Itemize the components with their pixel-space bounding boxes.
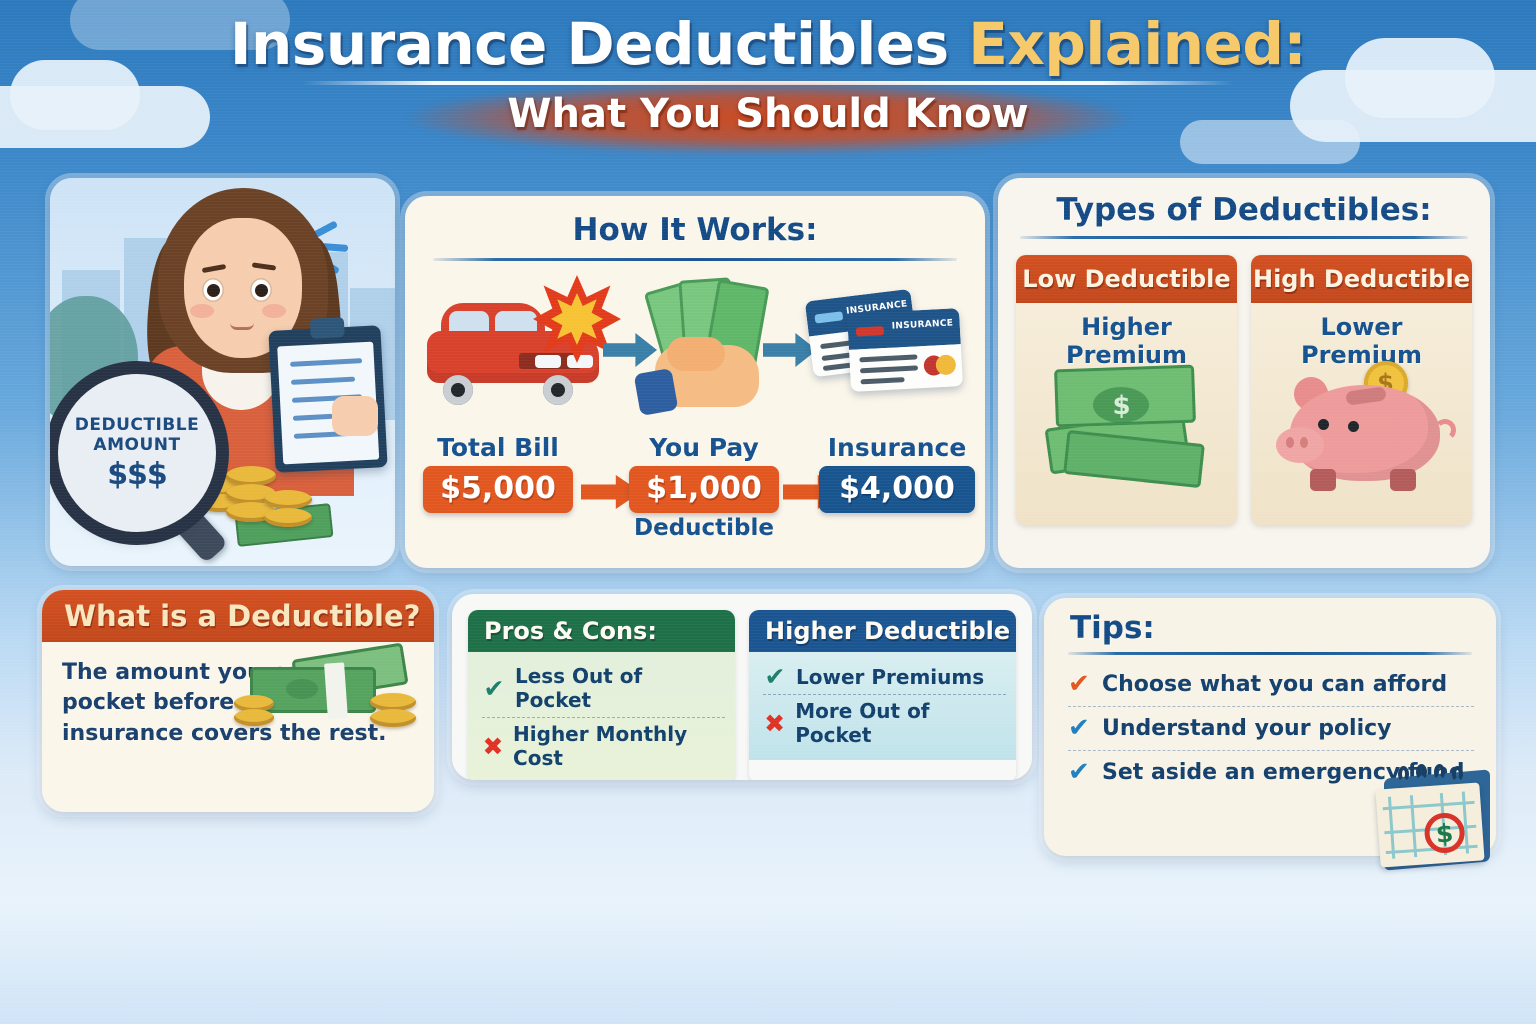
list-item-label: Understand your policy [1102, 716, 1392, 741]
magnifier-icon: DEDUCTIBLE AMOUNT $$$ [58, 374, 216, 532]
types-grid: Low Deductible Higher Premium $ High Ded… [998, 239, 1490, 541]
type-body: Lower Premium $ [1251, 303, 1472, 525]
hero-illustration-panel: DEDUCTIBLE AMOUNT $$$ [50, 178, 395, 566]
how-it-works-panel: How It Works: [405, 196, 985, 568]
list-item-label: Higher Monthly Cost [513, 722, 725, 770]
what-is-deductible-body: The amount you pay out of pocket before … [42, 642, 434, 749]
dollar-symbol: $ [1435, 820, 1454, 846]
pros-cons-body: ✔ Less Out of Pocket ✖ Higher Monthly Co… [468, 652, 735, 780]
step-label: Total Bill [423, 433, 573, 462]
type-header: High Deductible [1251, 255, 1472, 303]
step-sublabel: Deductible [629, 515, 779, 541]
woman-blush [262, 304, 286, 318]
shirt-cuff [634, 368, 679, 416]
coin-icon [264, 508, 312, 527]
paper-line [291, 377, 355, 385]
coin-icon [226, 466, 276, 486]
how-it-works-title: How It Works: [405, 212, 985, 248]
list-item-label: More Out of Pocket [795, 699, 1006, 747]
calendar-ring [1416, 764, 1427, 780]
list-item: ✔ Less Out of Pocket [482, 660, 725, 717]
pig-leg [1310, 469, 1336, 491]
calendar-icon: $ [1368, 760, 1500, 872]
pros-cons-column-high[interactable]: Higher Deductible ✔ Lower Premiums ✖ Mor… [749, 610, 1016, 780]
list-item-label: Lower Premiums [796, 665, 984, 689]
check-icon: ✔ [1068, 715, 1090, 741]
page-header: Insurance Deductibles Explained: What Yo… [0, 14, 1536, 147]
coin-icon [234, 709, 274, 726]
step-label: You Pay [629, 433, 779, 462]
pig-eye [1348, 421, 1359, 432]
step-label: Insurance [819, 433, 975, 462]
cash-stack-icon: $ [1043, 361, 1211, 491]
hand-thumb [667, 337, 725, 371]
type-subtitle: Lower Premium [1257, 313, 1466, 369]
woman-mouth [230, 323, 254, 330]
how-it-works-steps: Total Bill $5,000 You Pay $1,000 Deducti… [405, 427, 985, 553]
type-body: Higher Premium $ [1016, 303, 1237, 525]
how-it-works-illustration: INSURANCE INSURANCE [405, 271, 985, 423]
cross-icon: ✖ [763, 711, 786, 736]
step-you-pay: You Pay $1,000 Deductible [629, 433, 779, 541]
pig-nostril [1286, 437, 1294, 448]
list-item: ✔ Understand your policy [1068, 706, 1474, 750]
what-is-deductible-panel: What is a Deductible? The amount you pay… [42, 590, 434, 812]
magnifier-line-1: DEDUCTIBLE [75, 415, 199, 435]
pros-cons-column-low[interactable]: Pros & Cons: ✔ Less Out of Pocket ✖ High… [468, 610, 735, 780]
insurance-cards-icon: INSURANCE INSURANCE [809, 293, 961, 401]
pros-cons-body: ✔ Lower Premiums ✖ More Out of Pocket [749, 652, 1016, 760]
magnifier-line-2: AMOUNT [93, 435, 180, 455]
pros-and-cons-panel: Pros & Cons: ✔ Less Out of Pocket ✖ High… [452, 594, 1032, 780]
woman-pupil [207, 284, 220, 297]
step-value-chip: $1,000 [629, 466, 779, 513]
magnifier-content: DEDUCTIBLE AMOUNT $$$ [58, 374, 216, 532]
step-value-chip: $4,000 [819, 466, 975, 513]
page-title: Insurance Deductibles Explained: [0, 14, 1536, 75]
check-icon: ✔ [1068, 671, 1090, 697]
paper-line [293, 414, 333, 421]
list-item: ✖ Higher Monthly Cost [482, 717, 725, 775]
title-primary-text: Insurance Deductibles [230, 10, 968, 78]
hand-with-money-icon [637, 279, 777, 419]
crash-burst-inner [551, 293, 603, 345]
card-stripe [856, 326, 884, 336]
money-band [324, 662, 348, 719]
woman-blush [190, 304, 214, 318]
pros-cons-grid: Pros & Cons: ✔ Less Out of Pocket ✖ High… [452, 594, 1032, 780]
list-item-label: Less Out of Pocket [515, 664, 725, 712]
money-seal [286, 679, 318, 699]
calendar-ring [1434, 764, 1445, 780]
list-item: ✔ Lower Premiums [763, 660, 1006, 694]
cross-icon: ✖ [482, 734, 504, 759]
types-title: Types of Deductibles: [998, 192, 1490, 228]
calendar-ring [1452, 766, 1463, 782]
types-of-deductibles-panel: Types of Deductibles: Low Deductible Hig… [998, 178, 1490, 568]
type-column-high-deductible[interactable]: High Deductible Lower Premium $ [1251, 255, 1472, 525]
pros-cons-header: Higher Deductible [749, 610, 1016, 652]
subtitle-band: What You Should Know [268, 85, 1268, 147]
type-header: Low Deductible [1016, 255, 1237, 303]
insurance-card-front: INSURANCE [847, 308, 963, 392]
coin-icon [370, 709, 416, 727]
calendar-ring [1398, 766, 1409, 782]
step-total-bill: Total Bill $5,000 [423, 433, 573, 513]
car-wheel [443, 375, 473, 405]
infographic-canvas: Insurance Deductibles Explained: What Yo… [0, 0, 1536, 1024]
piggy-bank-icon: $ [1272, 371, 1452, 493]
check-icon: ✔ [482, 676, 506, 701]
money-stack-icon [240, 617, 420, 735]
step-value-chip: $5,000 [423, 466, 573, 513]
type-column-low-deductible[interactable]: Low Deductible Higher Premium $ [1016, 255, 1237, 525]
car-wheel [543, 375, 573, 405]
title-accent-text: Explained: [968, 10, 1306, 78]
step-insurance: Insurance $4,000 [819, 433, 975, 513]
check-icon: ✔ [1068, 759, 1090, 785]
list-item-label: Choose what you can afford [1102, 672, 1447, 697]
pig-leg [1390, 469, 1416, 491]
calendar-page: $ [1375, 782, 1484, 867]
woman-hand [332, 396, 378, 436]
clipboard-clip [310, 317, 345, 339]
paper-line [290, 358, 362, 367]
calendar-gridline [1383, 801, 1475, 810]
page-subtitle: What You Should Know [268, 91, 1268, 137]
list-item: ✖ More Out of Pocket [763, 694, 1006, 752]
pig-nostril [1300, 437, 1308, 448]
magnifier-line-3: $$$ [107, 457, 167, 492]
list-item: ✔ Choose what you can afford [1068, 663, 1474, 706]
tips-title: Tips: [1044, 598, 1496, 646]
check-icon: ✔ [763, 664, 787, 689]
woman-pupil [255, 284, 268, 297]
pros-cons-header: Pros & Cons: [468, 610, 735, 652]
section-divider [433, 258, 957, 261]
coin-icon [264, 490, 312, 509]
dollar-symbol: $ [1113, 391, 1131, 421]
pig-eye [1318, 419, 1329, 430]
